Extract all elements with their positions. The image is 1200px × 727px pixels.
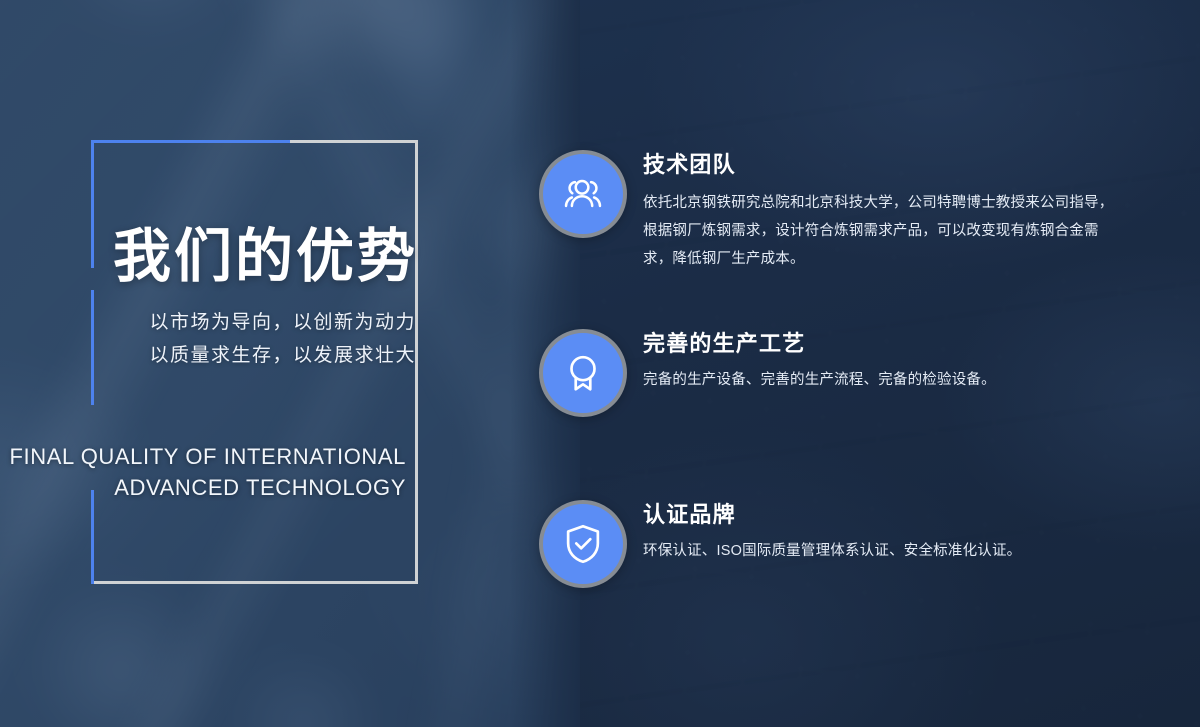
feature-title: 技术团队 <box>643 152 1123 178</box>
feature-description: 依托北京钢铁研究总院和北京科技大学，公司特聘博士教授来公司指导，根据钢厂炼钢需求… <box>643 190 1123 273</box>
page-title: 我们的优势 <box>0 225 418 289</box>
features-list: 技术团队 依托北京钢铁研究总院和北京科技大学，公司特聘博士教授来公司指导，根据钢… <box>539 0 1200 727</box>
team-people-icon <box>539 150 627 238</box>
feature-description: 完备的生产设备、完善的生产流程、完备的检验设备。 <box>643 367 1123 395</box>
advantages-banner: 我们的优势 以市场为导向，以创新为动力 以质量求生存，以发展求壮大 FINAL … <box>0 0 1200 727</box>
left-text-content: 我们的优势 以市场为导向，以创新为动力 以质量求生存，以发展求壮大 FINAL … <box>0 0 580 727</box>
subtitle-line-2: 以质量求生存，以发展求壮大 <box>0 341 416 371</box>
feature-body: 认证品牌 环保认证、ISO国际质量管理体系认证、安全标准化认证。 <box>643 502 1123 566</box>
feature-description: 环保认证、ISO国际质量管理体系认证、安全标准化认证。 <box>643 538 1123 566</box>
english-tagline-line-1: FINAL QUALITY OF INTERNATIONAL <box>0 441 406 472</box>
feature-body: 完善的生产工艺 完备的生产设备、完善的生产流程、完备的检验设备。 <box>643 331 1123 395</box>
english-tagline-line-2: ADVANCED TECHNOLOGY <box>0 472 406 503</box>
subtitle-line-1: 以市场为导向，以创新为动力 <box>0 308 416 338</box>
feature-title: 认证品牌 <box>643 502 1123 528</box>
shield-check-icon <box>539 500 627 588</box>
award-medal-icon <box>539 329 627 417</box>
english-tagline: FINAL QUALITY OF INTERNATIONAL ADVANCED … <box>0 441 406 503</box>
feature-body: 技术团队 依托北京钢铁研究总院和北京科技大学，公司特聘博士教授来公司指导，根据钢… <box>643 152 1123 274</box>
feature-title: 完善的生产工艺 <box>643 331 1123 357</box>
